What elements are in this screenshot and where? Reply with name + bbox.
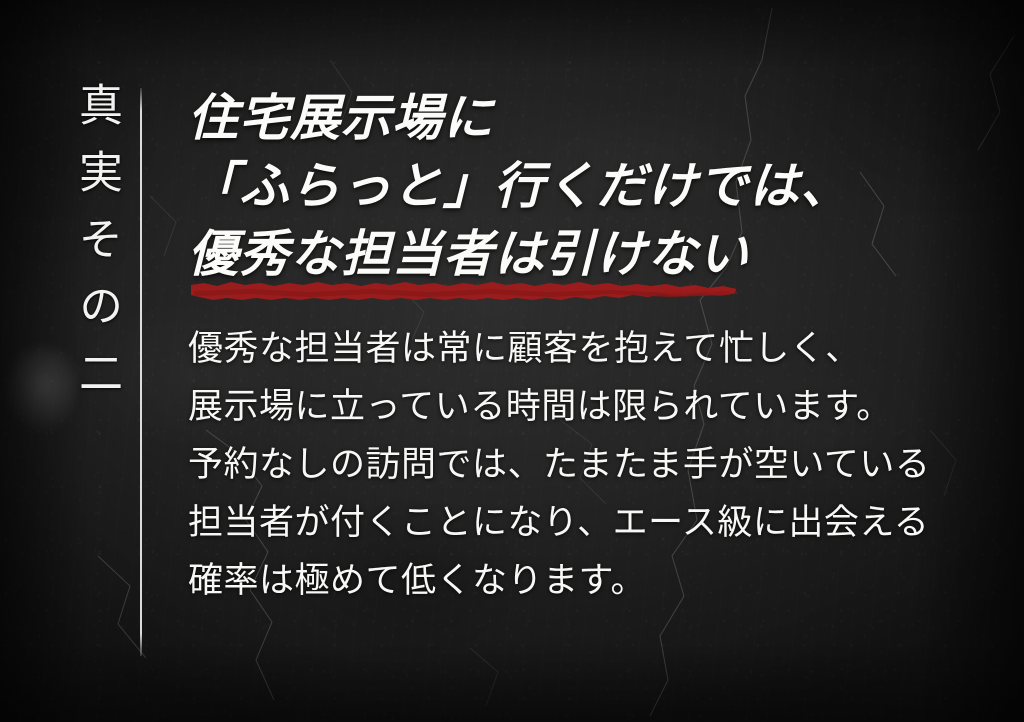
slide-root: 真実その二 住宅展示場に 「ふらっと」行くだけでは、 優秀な担当者は引けない 優…: [0, 0, 1024, 722]
section-label-vertical: 真実その二: [54, 82, 118, 417]
vertical-divider: [140, 88, 142, 656]
headline-line-3: 優秀な担当者は引けない: [188, 220, 984, 288]
body-line-5: 確率は極めて低くなります。: [188, 552, 984, 610]
body-line-4: 担当者が付くことになり、エース級に出会える: [188, 494, 984, 552]
content-column: 住宅展示場に 「ふらっと」行くだけでは、 優秀な担当者は引けない 優秀な担当者は…: [188, 84, 984, 610]
body-line-2: 展示場に立っている時間は限られています。: [188, 378, 984, 436]
body-copy: 優秀な担当者は常に顧客を抱えて忙しく、 展示場に立っている時間は限られています。…: [188, 288, 984, 610]
headline: 住宅展示場に 「ふらっと」行くだけでは、 優秀な担当者は引けない: [188, 84, 984, 288]
body-line-3: 予約なしの訪問では、たまたま手が空いている: [188, 436, 984, 494]
body-line-1: 優秀な担当者は常に顧客を抱えて忙しく、: [188, 320, 984, 378]
headline-line-1: 住宅展示場に: [188, 84, 984, 152]
headline-line-2: 「ふらっと」行くだけでは、: [188, 152, 984, 220]
